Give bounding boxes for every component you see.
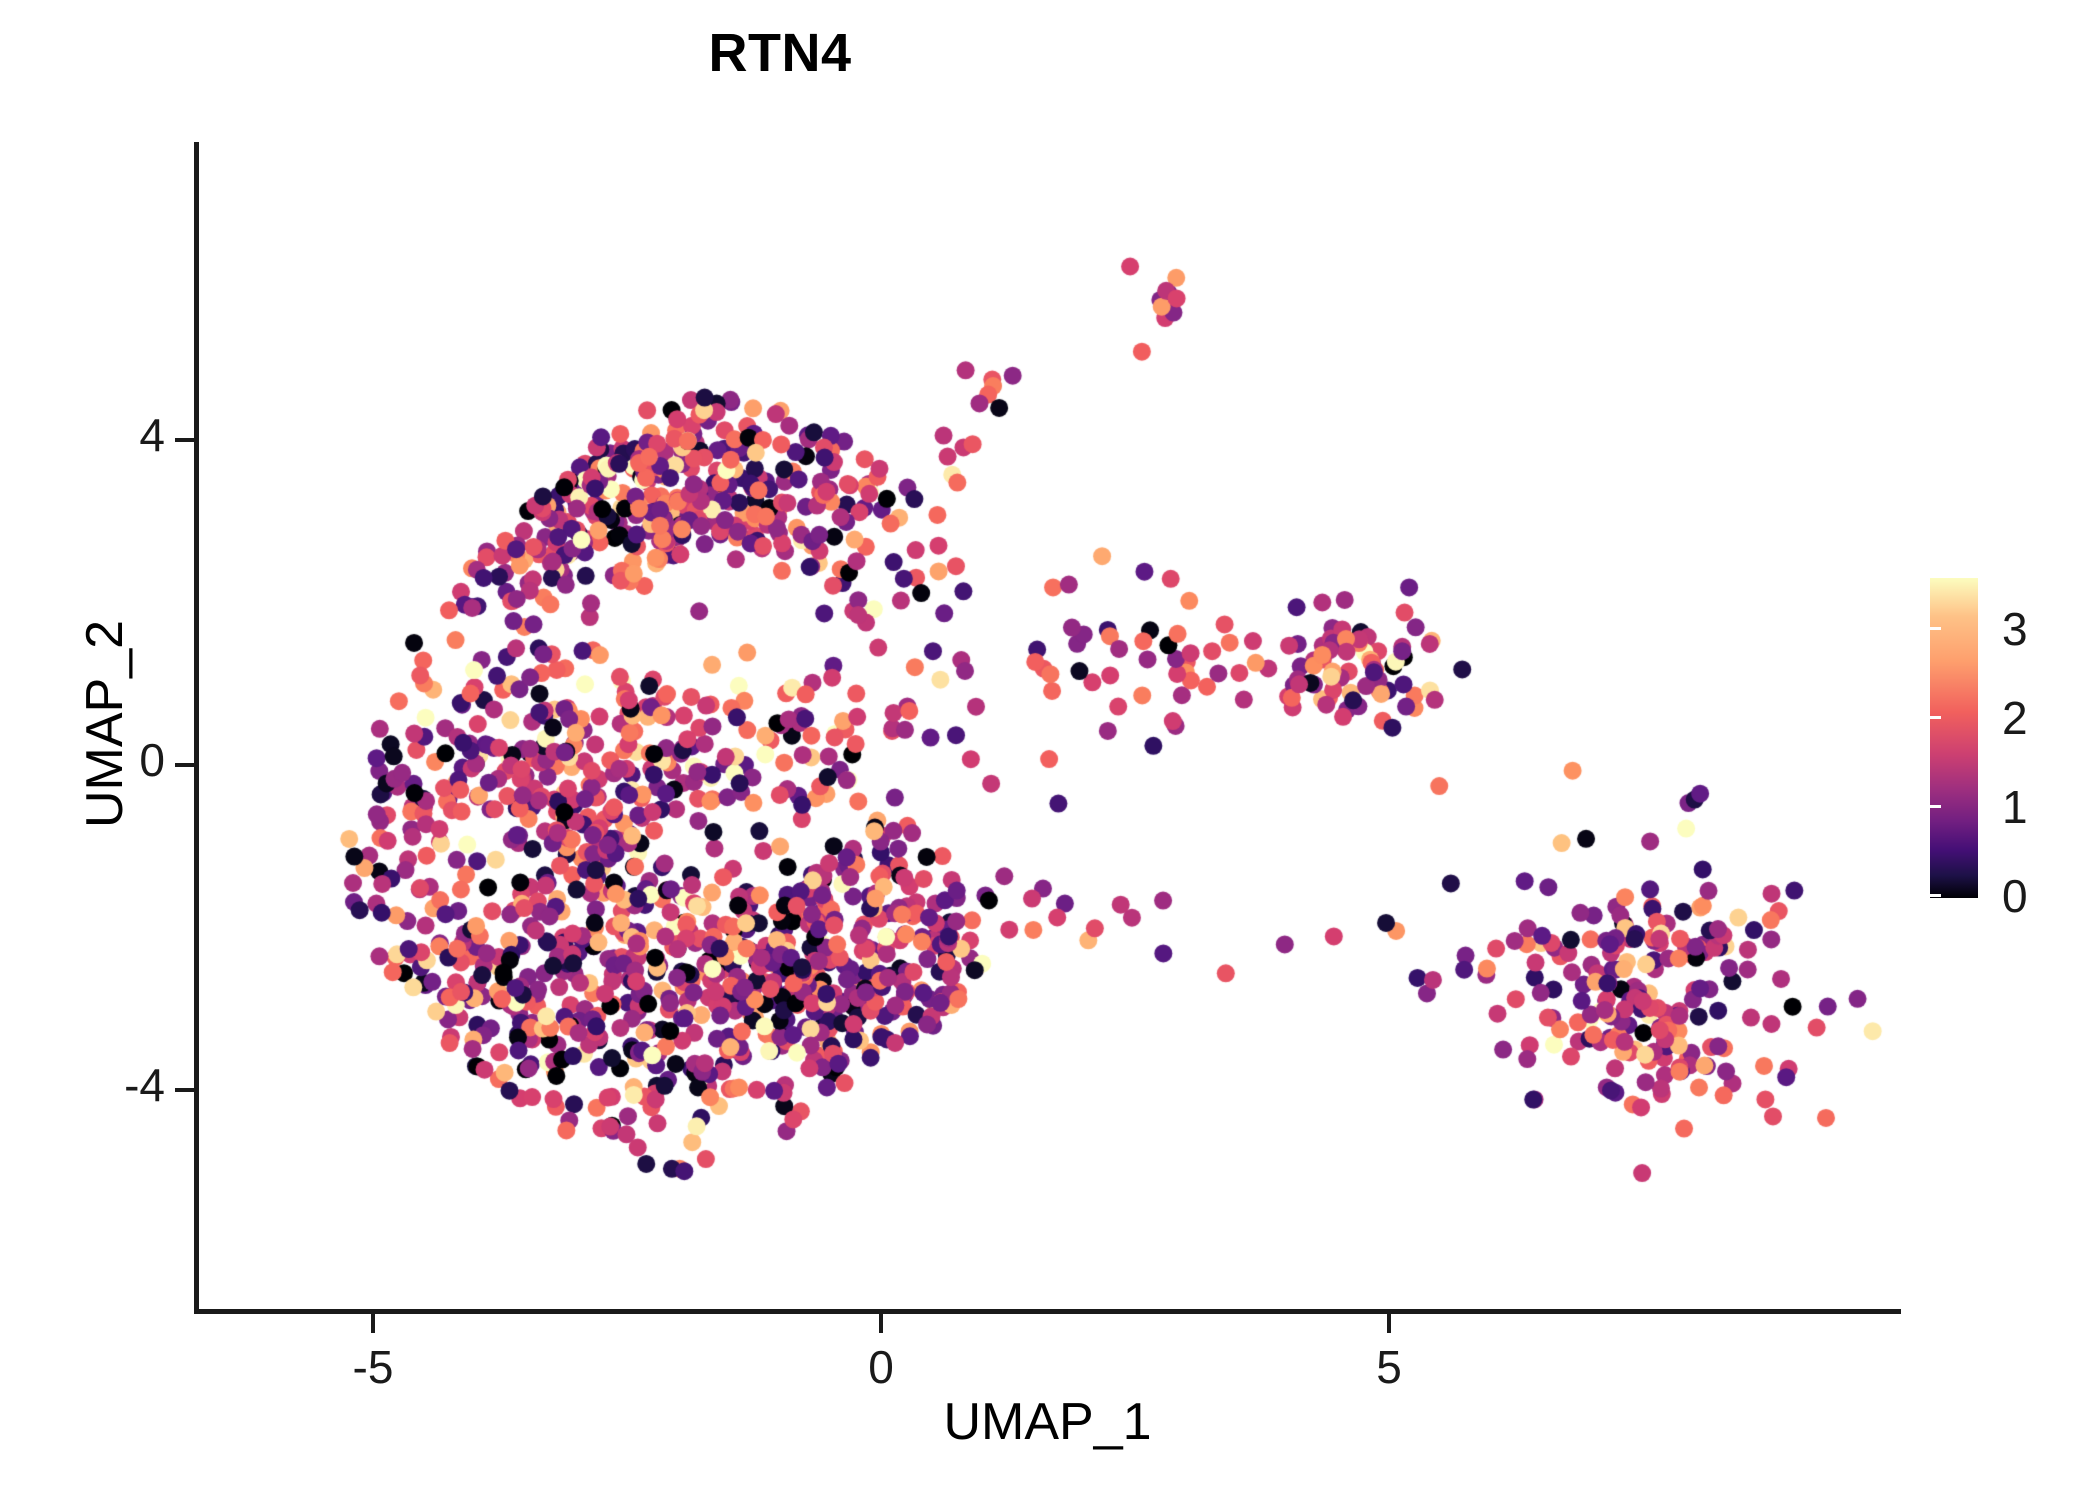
colorbar-tick-3-left: [1930, 627, 1941, 630]
colorbar-label-3: 3: [2002, 602, 2028, 656]
x-axis-title: UMAP_1: [194, 1392, 1901, 1452]
x-tick-mark-5: [1387, 1314, 1391, 1333]
y-tick-mark-0: [175, 763, 194, 767]
y-axis-title: UMAP_2: [75, 414, 135, 1034]
x-tick-label-0: 0: [801, 1340, 961, 1394]
colorbar-gradient: [1930, 578, 1978, 898]
y-axis-line: [194, 142, 199, 1314]
colorbar-tick-1-right: [2079, 805, 2090, 808]
colorbar-tick-1-left: [1930, 805, 1941, 808]
y-tick-mark-4: [175, 438, 194, 442]
page-title: RTN4: [0, 22, 1560, 84]
colorbar-tick-2-right: [2079, 716, 2090, 719]
colorbar-tick-3-right: [2079, 627, 2090, 630]
x-axis-line: [194, 1309, 1901, 1314]
colorbar-label-2: 2: [2002, 691, 2028, 745]
colorbar-tick-0-left: [1930, 894, 1941, 897]
x-tick-label-5: 5: [1309, 1340, 1469, 1394]
colorbar-label-0: 0: [2002, 869, 2028, 923]
plot-panel: [194, 142, 1901, 1310]
colorbar-legend: 3 2 1 0: [1930, 578, 2090, 918]
x-tick-mark-0: [879, 1314, 883, 1333]
x-tick-mark-minus5: [371, 1314, 375, 1333]
colorbar-label-1: 1: [2002, 780, 2028, 834]
scatter-plot-canvas: [194, 142, 1901, 1310]
x-tick-label-minus5: -5: [293, 1340, 453, 1394]
colorbar-tick-0-right: [2079, 894, 2090, 897]
y-tick-mark-minus4: [175, 1088, 194, 1092]
feature-plot-root: RTN4 4 0 -4 -5 0 5 UMAP_1 UMAP_2 3 2 1 0: [0, 0, 2100, 1500]
y-tick-label-minus4: -4: [5, 1058, 165, 1112]
colorbar-tick-2-left: [1930, 716, 1941, 719]
